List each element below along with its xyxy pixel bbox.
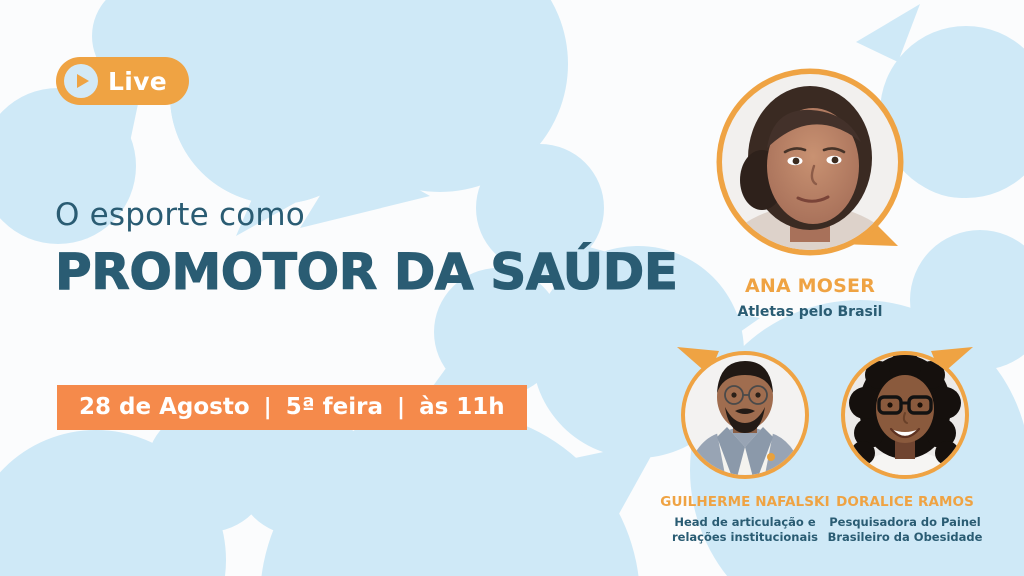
date-separator: | (250, 397, 286, 419)
live-badge[interactable]: Live (56, 57, 189, 105)
page-title: PROMOTOR DA SAÚDE (55, 246, 678, 299)
speaker-card-doralice-ramos: DORALICE RAMOS Pesquisadora do Painel Br… (820, 345, 990, 545)
speaker-role-line: Head de articulação e (655, 515, 835, 530)
speaker-name: GUILHERME NAFALSKI (655, 495, 835, 510)
headline-kicker: O esporte como (55, 200, 305, 231)
avatar-bubble-frame (835, 345, 975, 485)
avatar (674, 62, 946, 262)
avatar-bubble-frame (675, 345, 815, 485)
avatar (820, 345, 990, 485)
speaker-role-line: Atletas pelo Brasil (674, 303, 946, 321)
speaker-role: Pesquisadora do Painel Brasileiro da Obe… (820, 515, 990, 545)
speaker-name: DORALICE RAMOS (820, 495, 990, 510)
play-icon (64, 64, 98, 98)
date-segment-weekday: 5ª feira (286, 396, 383, 419)
live-event-poster: Live O esporte como PROMOTOR DA SAÚDE 28… (0, 0, 1024, 576)
play-triangle (77, 74, 89, 88)
speaker-name: ANA MOSER (674, 276, 946, 297)
date-separator: | (383, 397, 419, 419)
speaker-role: Head de articulação e relações instituci… (655, 515, 835, 545)
avatar-bubble-frame (710, 62, 910, 262)
speaker-role-line: Brasileiro da Obesidade (820, 530, 990, 545)
speaker-card-ana-moser: ANA MOSER Atletas pelo Brasil (674, 62, 946, 321)
speaker-role-line: Pesquisadora do Painel (820, 515, 990, 530)
speaker-card-guilherme-nafalski: GUILHERME NAFALSKI Head de articulação e… (655, 345, 835, 545)
avatar (655, 345, 835, 485)
date-segment-day: 28 de Agosto (79, 396, 250, 419)
date-segment-time: às 11h (419, 396, 505, 419)
event-date-bar: 28 de Agosto | 5ª feira | às 11h (57, 385, 527, 430)
speaker-role-line: relações institucionais (655, 530, 835, 545)
live-badge-label: Live (108, 69, 167, 94)
